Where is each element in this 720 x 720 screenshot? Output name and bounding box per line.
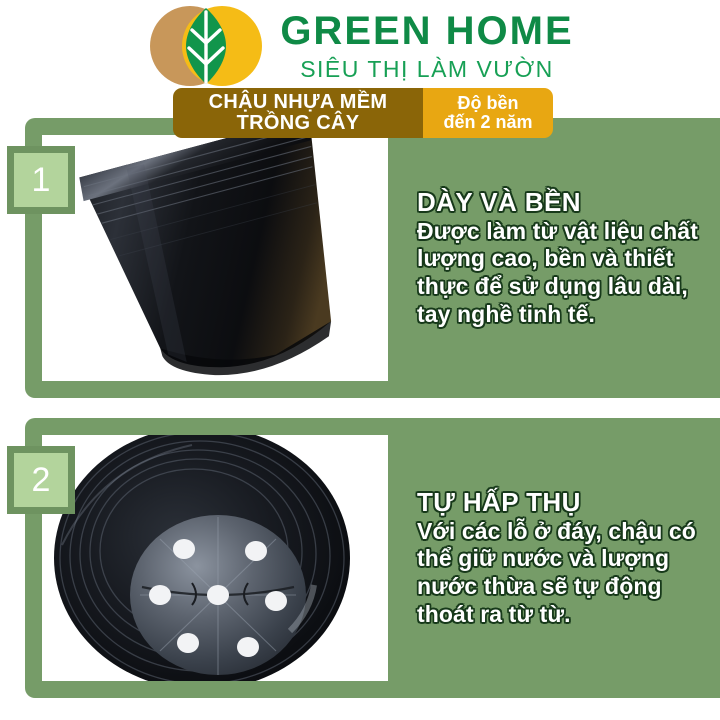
black-plastic-pot-exterior-photo	[42, 135, 388, 381]
step-badge-number-1: 1	[14, 153, 68, 207]
step-badge-2: 2	[7, 446, 75, 514]
black-plastic-pot-interior-drainage-holes-photo	[42, 435, 388, 681]
feature-copy-2: TỰ HẤP THỤ Với các lỗ ở đáy, chậu có thể…	[417, 418, 717, 698]
feature-title-1: DÀY VÀ BỀN	[417, 188, 717, 217]
ribbon-durability-badge: Độ bền đến 2 năm	[423, 88, 553, 138]
feature-title-2: TỰ HẤP THỤ	[417, 488, 717, 517]
step-badge-number-2: 2	[14, 453, 68, 507]
ribbon-main-line-2: TRỒNG CÂY	[237, 113, 360, 134]
feature-body-1: Được làm từ vật liệu chất lượng cao, bền…	[417, 218, 717, 328]
brand-wordmark: GREEN HOME SIÊU THỊ LÀM VƯỜN	[280, 11, 573, 81]
product-ribbon-banner: CHẬU NHỰA MỀM TRỒNG CÂY Độ bền đến 2 năm	[173, 88, 553, 138]
feature-body-2: Với các lỗ ở đáy, chậu có thể giữ nước v…	[417, 518, 717, 628]
ribbon-main-line-1: CHẬU NHỰA MỀM	[209, 92, 388, 113]
brand-name: GREEN HOME	[280, 11, 573, 51]
ribbon-badge-line-2: đến 2 năm	[443, 113, 532, 132]
brand-header: GREEN HOME SIÊU THỊ LÀM VƯỜN	[0, 0, 720, 92]
feature-photo-frame-2	[42, 435, 388, 681]
ribbon-badge-line-1: Độ bền	[458, 94, 519, 113]
feature-section-1: 1 DÀY VÀ BỀN Được làm từ vật liệu chất l…	[25, 118, 720, 398]
feature-section-2: 2 TỰ HẤP THỤ Với các lỗ ở đáy, chậu có t…	[25, 418, 720, 698]
ribbon-product-label: CHẬU NHỰA MỀM TRỒNG CÂY	[173, 88, 423, 138]
step-badge-1: 1	[7, 146, 75, 214]
brand-tagline: SIÊU THỊ LÀM VƯỜN	[300, 58, 554, 81]
feature-copy-1: DÀY VÀ BỀN Được làm từ vật liệu chất lượ…	[417, 118, 717, 398]
feature-photo-frame-1	[42, 135, 388, 381]
two-circles-leaf-logo-icon	[146, 5, 266, 87]
